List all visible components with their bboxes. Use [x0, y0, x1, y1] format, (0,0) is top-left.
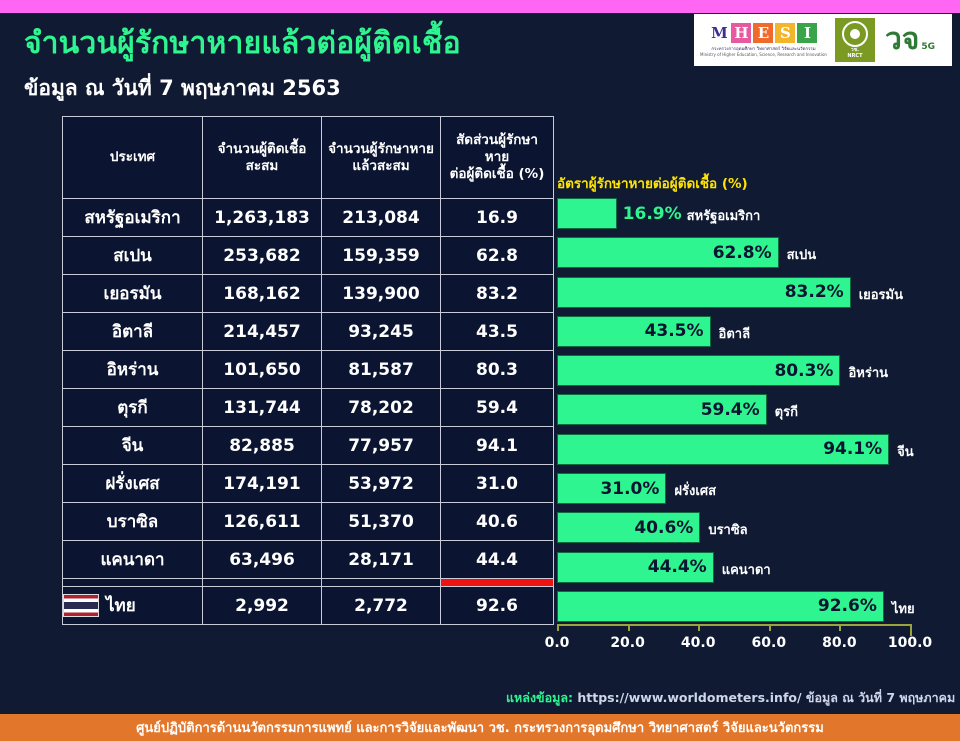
- chart-bar[interactable]: 94.1%: [557, 434, 889, 465]
- table-row: อิตาลี214,45793,24543.5: [63, 313, 554, 351]
- table-spacer-cell: [203, 579, 322, 587]
- mhesi-letter-m: M: [709, 23, 729, 43]
- chart-bar-value-label: 80.3%: [774, 361, 839, 381]
- chart-bar-row: 43.5%อิตาลี: [557, 312, 953, 351]
- cell-recovered: 213,084: [322, 199, 441, 237]
- cell-cases: 131,744: [203, 389, 322, 427]
- thailand-flag-icon: [63, 594, 99, 617]
- chart-bar-value-label: 16.9%: [623, 204, 682, 224]
- chart-category-label: เยอรมัน: [859, 284, 903, 305]
- cell-recovered: 159,359: [322, 237, 441, 275]
- x-axis-line: [557, 624, 910, 626]
- x-axis-tick: [698, 624, 700, 631]
- country-recovery-table: ประเทศ จำนวนผู้ติดเชื้อ สะสม จำนวนผู้รัก…: [62, 116, 554, 625]
- table-row: สหรัฐอเมริกา1,263,183213,08416.9: [63, 199, 554, 237]
- mhesi-letter-s: S: [775, 23, 795, 43]
- chart-category-label: สหรัฐอเมริกา: [687, 205, 761, 226]
- chart-category-label: ไทย: [892, 598, 915, 619]
- source-asof: ข้อมูล ณ วันที่ 7 พฤษภาคม 2563: [806, 690, 960, 705]
- cell-cases: 101,650: [203, 351, 322, 389]
- column-header-recovered-line1: จำนวนผู้รักษาหาย: [325, 141, 437, 158]
- chart-bar[interactable]: 92.6%: [557, 591, 884, 622]
- x-axis-tick-label: 20.0: [610, 635, 645, 651]
- x-axis-tick: [769, 624, 771, 631]
- recovery-rate-bar-chart: อัตราผู้รักษาหายต่อผู้ติดเชื้อ (%) 16.9%…: [553, 172, 953, 672]
- wo-glyph: วจ: [885, 26, 919, 54]
- 5g-badge: 5G: [921, 42, 935, 52]
- source-label: แหล่งข้อมูล:: [506, 690, 573, 705]
- source-note: แหล่งข้อมูล: https://www.worldometers.in…: [506, 688, 960, 708]
- cell-country-name: ฝรั่งเศส: [63, 465, 203, 503]
- table-row: ฝรั่งเศส174,19153,97231.0: [63, 465, 554, 503]
- x-axis-tick: [557, 624, 559, 631]
- cell-recovered: 53,972: [322, 465, 441, 503]
- chart-bar-row: 62.8%สเปน: [557, 233, 953, 272]
- chart-bar-row: 80.3%อิหร่าน: [557, 351, 953, 390]
- chart-bar-row: 40.6%บราซิล: [557, 508, 953, 547]
- nrct-logo: วช. NRCT: [835, 18, 875, 62]
- chart-bar[interactable]: 62.8%: [557, 237, 779, 268]
- chart-category-label: อิหร่าน: [848, 362, 888, 383]
- cell-pct: 83.2: [441, 275, 554, 313]
- cell-cases: 126,611: [203, 503, 322, 541]
- page-title: จำนวนผู้รักษาหายแล้วต่อผู้ติดเชื้อ: [24, 20, 461, 67]
- cell-cases: 168,162: [203, 275, 322, 313]
- chart-bar-value-label: 83.2%: [785, 282, 850, 302]
- cell-recovered: 77,957: [322, 427, 441, 465]
- chart-bar[interactable]: 31.0%: [557, 473, 666, 504]
- x-axis-tick: [628, 624, 630, 631]
- chart-bar-row: 94.1%จีน: [557, 430, 953, 469]
- column-header-pct-line2: ต่อผู้ติดเชื้อ (%): [444, 166, 550, 183]
- chart-bar-value-label: 92.6%: [818, 596, 883, 616]
- table-row-highlight-thailand: ไทย2,9922,77292.6: [63, 587, 554, 625]
- chart-plot-area: 16.9%สหรัฐอเมริกา62.8%สเปน83.2%เยอรมัน43…: [557, 194, 953, 624]
- table-spacer-cell: [63, 579, 203, 587]
- x-axis-tick-label: 40.0: [681, 635, 716, 651]
- table-header-row: ประเทศ จำนวนผู้ติดเชื้อ สะสม จำนวนผู้รัก…: [63, 117, 554, 199]
- chart-bar[interactable]: 59.4%: [557, 394, 767, 425]
- chart-bar-row: 31.0%ฝรั่งเศส: [557, 469, 953, 508]
- cell-cases: 63,496: [203, 541, 322, 579]
- cell-pct: 94.1: [441, 427, 554, 465]
- cell-country-name: ตุรกี: [63, 389, 203, 427]
- chart-bar[interactable]: 40.6%: [557, 512, 700, 543]
- x-axis-tick-label: 60.0: [752, 635, 787, 651]
- cell-pct: 16.9: [441, 199, 554, 237]
- thailand-label: ไทย: [106, 592, 136, 619]
- column-header-pct-line1: สัดส่วนผู้รักษาหาย: [444, 132, 550, 166]
- table-row: เยอรมัน168,162139,90083.2: [63, 275, 554, 313]
- cell-recovered: 78,202: [322, 389, 441, 427]
- mhesi-letter-i: I: [797, 23, 817, 43]
- mhesi-letter-h: H: [731, 23, 751, 43]
- cell-cases: 174,191: [203, 465, 322, 503]
- chart-category-label: ตุรกี: [775, 401, 798, 422]
- page-subtitle: ข้อมูล ณ วันที่ 7 พฤษภาคม 2563: [24, 72, 341, 105]
- nrct-caption-en: NRCT: [847, 53, 862, 59]
- cell-recovered: 93,245: [322, 313, 441, 351]
- column-header-cases: จำนวนผู้ติดเชื้อ สะสม: [203, 117, 322, 199]
- column-header-recovered: จำนวนผู้รักษาหาย แล้วสะสม: [322, 117, 441, 199]
- table-row: แคนาดา63,49628,17144.4: [63, 541, 554, 579]
- cell-country-name: สหรัฐอเมริกา: [63, 199, 203, 237]
- chart-bar-value-label: 59.4%: [701, 400, 766, 420]
- source-url[interactable]: https://www.worldometers.info/: [577, 690, 801, 705]
- chart-bar-row: 44.4%แคนาดา: [557, 548, 953, 587]
- cell-pct: 31.0: [441, 465, 554, 503]
- chart-title: อัตราผู้รักษาหายต่อผู้ติดเชื้อ (%): [557, 172, 748, 194]
- mhesi-letters: M H E S I: [709, 23, 817, 43]
- mhesi-thai-caption: กระทรวงการอุดมศึกษา วิทยาศาสตร์ วิจัยและ…: [711, 45, 815, 52]
- cell-country-name: บราซิล: [63, 503, 203, 541]
- cell-cases: 2,992: [203, 587, 322, 625]
- chart-bar[interactable]: 80.3%: [557, 355, 840, 386]
- chart-bar[interactable]: 16.9%: [557, 198, 617, 229]
- chart-bar-value-label: 44.4%: [648, 557, 713, 577]
- footer-text: ศูนย์ปฏิบัติการด้านนวัตกรรมการแพทย์ และก…: [136, 717, 824, 738]
- dharma-wheel-icon: [842, 21, 868, 47]
- table-spacer-cell: [441, 579, 554, 587]
- chart-x-axis: 0.020.040.060.080.0100.0: [557, 624, 953, 658]
- column-header-country: ประเทศ: [63, 117, 203, 199]
- mhesi-letter-e: E: [753, 23, 773, 43]
- cell-pct: 44.4: [441, 541, 554, 579]
- chart-bar-value-label: 31.0%: [600, 479, 665, 499]
- table-body: สหรัฐอเมริกา1,263,183213,08416.9สเปน253,…: [63, 199, 554, 625]
- chart-category-label: อิตาลี: [719, 323, 751, 344]
- chart-bar-row: 83.2%เยอรมัน: [557, 273, 953, 312]
- cell-recovered: 81,587: [322, 351, 441, 389]
- x-axis-tick-label: 100.0: [888, 635, 932, 651]
- cell-country-name: จีน: [63, 427, 203, 465]
- chart-bar-value-label: 40.6%: [634, 518, 699, 538]
- cell-cases: 82,885: [203, 427, 322, 465]
- top-decor-strip: [0, 0, 960, 13]
- chart-category-label: ฝรั่งเศส: [674, 480, 716, 501]
- cell-recovered: 2,772: [322, 587, 441, 625]
- chart-bar[interactable]: 43.5%: [557, 316, 711, 347]
- cell-country-name: แคนาดา: [63, 541, 203, 579]
- wo-5g-logo: วจ 5G: [885, 26, 935, 54]
- cell-cases: 214,457: [203, 313, 322, 351]
- cell-pct: 40.6: [441, 503, 554, 541]
- organization-logo-bar: M H E S I กระทรวงการอุดมศึกษา วิทยาศาสตร…: [694, 14, 952, 66]
- chart-category-label: บราซิล: [708, 519, 747, 540]
- thailand-name-wrap: ไทย: [63, 592, 202, 619]
- table-row: บราซิล126,61151,37040.6: [63, 503, 554, 541]
- table-row: สเปน253,682159,35962.8: [63, 237, 554, 275]
- column-header-cases-line1: จำนวนผู้ติดเชื้อ: [206, 141, 318, 158]
- cell-country-name: เยอรมัน: [63, 275, 203, 313]
- cell-pct: 62.8: [441, 237, 554, 275]
- chart-bar[interactable]: 44.4%: [557, 552, 714, 583]
- cell-country-name: อิตาลี: [63, 313, 203, 351]
- cell-pct: 43.5: [441, 313, 554, 351]
- chart-bar[interactable]: 83.2%: [557, 277, 851, 308]
- cell-recovered: 28,171: [322, 541, 441, 579]
- cell-country-name: อิหร่าน: [63, 351, 203, 389]
- column-header-cases-line2: สะสม: [206, 158, 318, 175]
- chart-bar-value-label: 94.1%: [823, 439, 888, 459]
- chart-category-label: สเปน: [787, 244, 817, 265]
- chart-bar-row: 16.9%สหรัฐอเมริกา: [557, 194, 953, 233]
- footer-bar: ศูนย์ปฏิบัติการด้านนวัตกรรมการแพทย์ และก…: [0, 714, 960, 741]
- chart-bar-row: 92.6%ไทย: [557, 587, 953, 626]
- cell-country-name: สเปน: [63, 237, 203, 275]
- x-axis-tick: [839, 624, 841, 631]
- chart-bar-value-label: 43.5%: [645, 321, 710, 341]
- chart-category-label: แคนาดา: [722, 559, 771, 580]
- column-header-pct: สัดส่วนผู้รักษาหาย ต่อผู้ติดเชื้อ (%): [441, 117, 554, 199]
- table-spacer-row: [63, 579, 554, 587]
- mhesi-english-caption: Ministry of Higher Education, Science, R…: [700, 52, 827, 57]
- cell-pct: 80.3: [441, 351, 554, 389]
- cell-cases: 1,263,183: [203, 199, 322, 237]
- table-row: ตุรกี131,74478,20259.4: [63, 389, 554, 427]
- cell-country-name: ไทย: [63, 587, 203, 625]
- cell-cases: 253,682: [203, 237, 322, 275]
- cell-pct: 92.6: [441, 587, 554, 625]
- cell-recovered: 139,900: [322, 275, 441, 313]
- column-header-recovered-line2: แล้วสะสม: [325, 158, 437, 175]
- table-row: อิหร่าน101,65081,58780.3: [63, 351, 554, 389]
- mhesi-logo: M H E S I กระทรวงการอุดมศึกษา วิทยาศาสตร…: [700, 23, 827, 57]
- chart-category-label: จีน: [897, 441, 914, 462]
- cell-recovered: 51,370: [322, 503, 441, 541]
- chart-bar-row: 59.4%ตุรกี: [557, 390, 953, 429]
- table-spacer-cell: [322, 579, 441, 587]
- x-axis-tick-label: 0.0: [545, 635, 570, 651]
- cell-pct: 59.4: [441, 389, 554, 427]
- x-axis-tick-label: 80.0: [822, 635, 857, 651]
- table-row: จีน82,88577,95794.1: [63, 427, 554, 465]
- chart-bar-value-label: 62.8%: [713, 243, 778, 263]
